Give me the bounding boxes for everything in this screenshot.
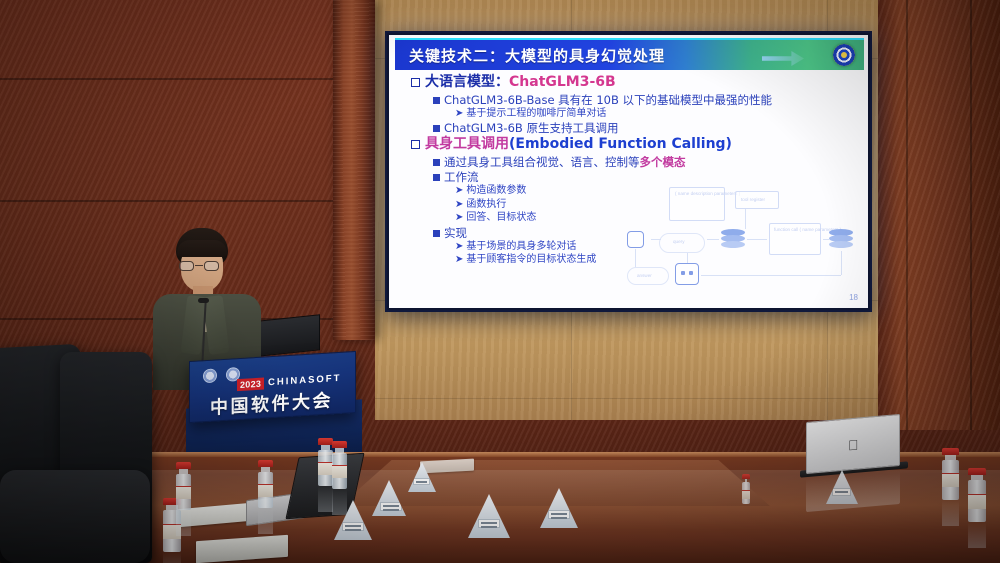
filled-square-bullet-icon: [433, 230, 440, 237]
bullet-text: 基于顾客指令的目标状态生成: [466, 255, 596, 266]
bullet-text: 函数执行: [466, 200, 506, 211]
database-cylinder: [721, 229, 745, 251]
arrow-bullet-icon: ➤: [455, 186, 463, 197]
slide-header-bar: 关键技术二：大模型的具身幻觉处理: [395, 40, 864, 70]
bullet-level2: ChatGLM3-6B 原生支持工具调用: [433, 122, 860, 134]
wall-seam: [0, 200, 340, 202]
right-wood-wall: [878, 0, 1000, 430]
filled-square-bullet-icon: [433, 125, 440, 132]
filled-square-bullet-icon: [433, 97, 440, 104]
leather-chair-foreground: [0, 470, 150, 563]
arrow-bullet-icon: ➤: [455, 255, 463, 266]
bullet-level2: 工作流: [433, 171, 860, 183]
arrow-bullet-icon: ➤: [455, 109, 463, 120]
bullet-level2: ChatGLM3-6B-Base 具有在 10B 以下的基础模型中最强的性能: [433, 94, 860, 106]
bullet-level3: ➤ 基于提示工程的咖啡厅简单对话: [455, 109, 860, 120]
bullet-text: 基于提示工程的咖啡厅简单对话: [466, 109, 606, 120]
glasses-right-lens: [204, 261, 219, 271]
diagram-label: tool register: [741, 197, 765, 204]
bullet-text: 回答、目标状态: [466, 213, 536, 224]
arrow-bullet-icon: ➤: [455, 213, 463, 224]
slide-title: 关键技术二：大模型的具身幻觉处理: [409, 45, 665, 66]
microphone-head: [198, 298, 209, 303]
slide-page-number: 18: [849, 293, 858, 302]
glasses-bridge: [195, 265, 203, 266]
slide-surface: 关键技术二：大模型的具身幻觉处理 大语言模型： ChatGLM3-6B Chat…: [389, 35, 868, 308]
user-face-icon: [627, 231, 644, 248]
name-card-label: [478, 519, 500, 528]
podium-brand-cn: 中国软件大会: [210, 386, 333, 420]
name-card-label: [413, 478, 430, 485]
diagram-label: answer: [637, 273, 652, 280]
glasses-left-lens: [179, 261, 194, 271]
robot-icon: [675, 263, 699, 285]
name-card-label: [380, 502, 402, 511]
arrow-bullet-icon: ➤: [455, 242, 463, 253]
water-bottle: [332, 441, 347, 489]
hollow-square-bullet-icon: [411, 78, 420, 87]
projection-screen: 关键技术二：大模型的具身幻觉处理 大语言模型： ChatGLM3-6B Chat…: [385, 31, 872, 312]
macbook-laptop: : [806, 414, 900, 474]
bullet-text: 大语言模型：: [425, 75, 509, 90]
name-card-label: [832, 488, 851, 496]
emblem-icon-left: [203, 368, 217, 383]
bullet-level1: 具身工具调用 (Embodied Function Calling): [411, 137, 860, 152]
bullet-text: 构造函数参数: [466, 186, 526, 197]
name-card-label: [342, 522, 364, 531]
podium-year: 2023: [237, 378, 264, 392]
hair-fringe: [177, 240, 227, 257]
wall-seam: [0, 78, 340, 80]
name-card-label: [548, 510, 570, 519]
filled-square-bullet-icon: [433, 174, 440, 181]
conference-room-scene: 关键技术二：大模型的具身幻觉处理 大语言模型： ChatGLM3-6B Chat…: [0, 0, 1000, 563]
bullet-level2: 通过具身工具组合视觉、语言、控制等 多个模态: [433, 156, 860, 168]
bullet-text: 具身工具调用: [425, 137, 509, 152]
arrow-bullet-icon: ➤: [455, 200, 463, 211]
arrow-icon: [762, 51, 804, 66]
bullet-text: ChatGLM3-6B-Base 具有在 10B 以下的基础模型中最强的性能: [444, 94, 772, 106]
water-bottle: [742, 474, 750, 504]
function-calling-workflow-diagram: ( name description parameters ) tool reg…: [617, 187, 862, 292]
water-bottle: [318, 438, 333, 486]
conference-podium-sign: 2023 CHINASOFT 中国软件大会: [189, 351, 356, 423]
diagram-label: ( name description parameters ): [675, 191, 740, 198]
university-seal-logo: [833, 44, 855, 66]
bullet-text: ChatGLM3-6B 原生支持工具调用: [444, 122, 618, 134]
bullet-level1: 大语言模型： ChatGLM3-6B: [411, 75, 860, 90]
bullet-text: 工作流: [444, 171, 479, 183]
bullet-accent: (Embodied Function Calling): [509, 137, 732, 152]
bullet-text: 通过具身工具组合视觉、语言、控制等: [444, 156, 640, 168]
filled-square-bullet-icon: [433, 159, 440, 166]
apple-logo-icon: : [848, 437, 861, 453]
bullet-text: 实现: [444, 227, 467, 239]
bullet-text: 基于场景的具身多轮对话: [466, 242, 576, 253]
result-cylinder: [829, 229, 853, 251]
bullet-accent: ChatGLM3-6B: [509, 75, 616, 90]
water-bottle: [968, 468, 986, 522]
diagram-label: query: [673, 239, 685, 246]
water-bottle: [942, 448, 959, 500]
wall-column: [333, 0, 375, 340]
hollow-square-bullet-icon: [411, 140, 420, 149]
water-bottle: [176, 462, 191, 510]
water-bottle: [258, 460, 273, 508]
bullet-accent: 多个模态: [640, 156, 686, 168]
